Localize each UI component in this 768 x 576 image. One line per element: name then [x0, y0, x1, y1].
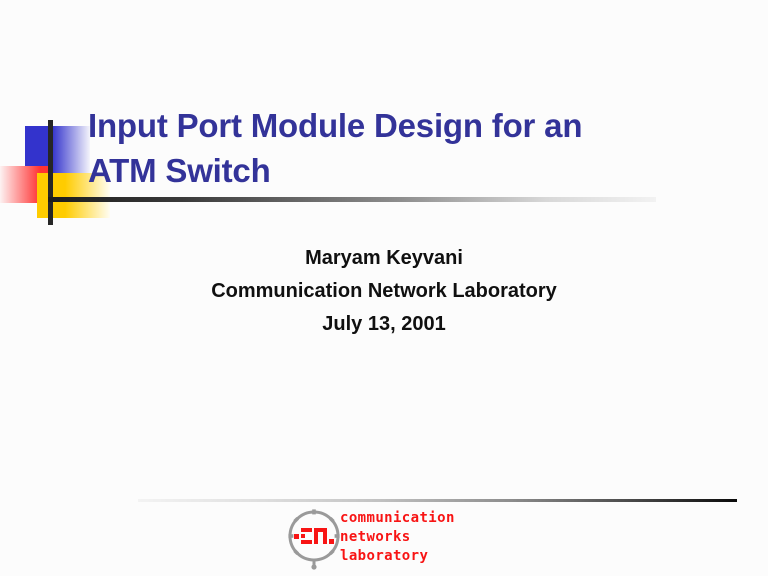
cnl-emblem-icon [283, 508, 345, 570]
subtitle-date: July 13, 2001 [114, 308, 654, 341]
subtitle-affiliation: Communication Network Laboratory [114, 275, 654, 308]
decor-red-gradient [0, 166, 40, 203]
decor-blue-square [25, 126, 52, 173]
decor-vertical-line [48, 120, 53, 225]
wordmark-line-2: networks [340, 528, 500, 547]
title-line-1: Input Port Module Design for an [88, 103, 728, 148]
wordmark-line-1: communication [340, 509, 500, 528]
slide-title: Input Port Module Design for an ATM Swit… [88, 103, 728, 193]
decor-blue-gradient [52, 126, 90, 173]
title-line-2: ATM Switch [88, 148, 728, 193]
wordmark-line-3: laboratory [340, 547, 500, 566]
decor-yellow-square [37, 173, 65, 218]
cnl-wordmark: communication networks laboratory [340, 509, 500, 566]
title-divider-rule [48, 197, 656, 202]
cnl-logo: communication networks laboratory [283, 506, 498, 572]
subtitle-author: Maryam Keyvani [114, 242, 654, 275]
slide-subtitle: Maryam Keyvani Communication Network Lab… [114, 242, 654, 341]
presentation-slide: Input Port Module Design for an ATM Swit… [0, 0, 768, 576]
footer-divider-rule [138, 499, 737, 502]
